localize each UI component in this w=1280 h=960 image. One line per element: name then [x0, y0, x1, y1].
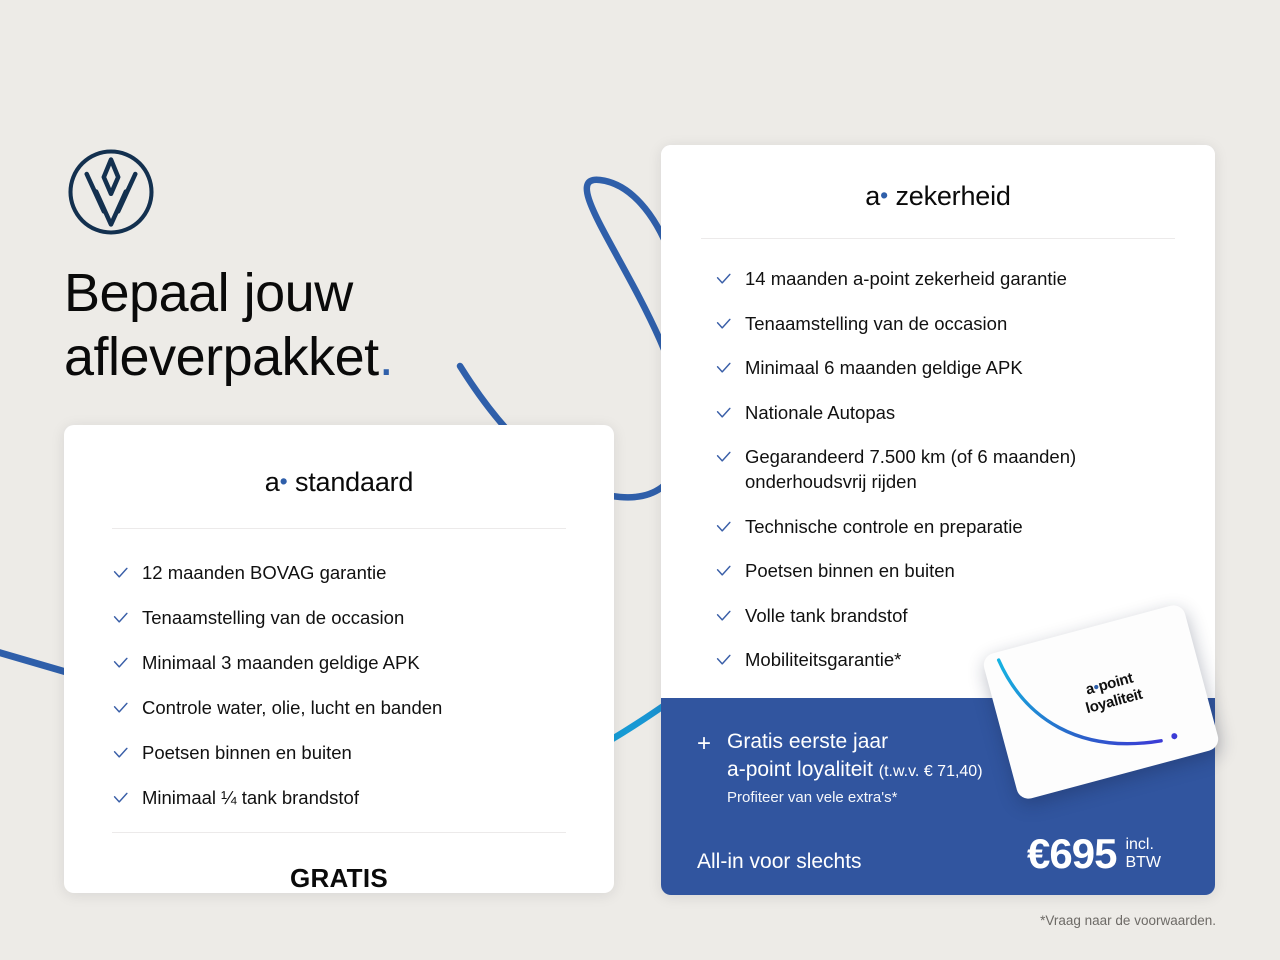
standaard-title-divider [112, 528, 566, 529]
check-icon [112, 655, 129, 672]
price-tax-note: incl. BTW [1125, 836, 1161, 872]
price-amount: €695 [1027, 833, 1116, 875]
bonus-subline: Profiteer van vele extra's* [727, 789, 983, 806]
footnote: *Vraag naar de voorwaarden. [1040, 913, 1216, 928]
page-title-line2: afleverpakket. [64, 326, 393, 390]
zekerheid-title-divider [701, 238, 1175, 239]
list-item: 12 maanden BOVAG garantie [112, 561, 566, 586]
standaard-title-text: standaard [295, 467, 413, 497]
check-icon [715, 652, 732, 669]
list-item: Controle water, olie, lucht en banden [112, 696, 566, 721]
zekerheid-title-prefix: a [865, 181, 880, 211]
list-item: Poetsen binnen en buiten [715, 559, 1175, 584]
price-tax-line2: BTW [1125, 854, 1161, 872]
list-item: Minimaal 6 maanden geldige APK [715, 356, 1175, 381]
zekerheid-card-inner: a• zekerheid 14 maanden a-point zekerhei… [661, 145, 1215, 673]
plus-icon: + [697, 732, 711, 756]
check-icon [112, 790, 129, 807]
bonus-line2-text: a-point loyaliteit [727, 758, 873, 781]
list-item-label: Gegarandeerd 7.500 km (of 6 maanden) ond… [745, 445, 1175, 494]
list-item-label: Mobiliteitsgarantie* [745, 648, 901, 673]
standaard-card-title: a• standaard [112, 467, 566, 498]
list-item-label: Minimaal 6 maanden geldige APK [745, 356, 1023, 381]
brand-dot-icon: • [880, 182, 888, 208]
bonus-text-block: Gratis eerste jaar a-point loyaliteit (t… [727, 728, 983, 806]
list-item: Gegarandeerd 7.500 km (of 6 maanden) ond… [715, 445, 1175, 494]
vw-logo-icon [66, 147, 156, 237]
check-icon [112, 700, 129, 717]
package-card-zekerheid[interactable]: a• zekerheid 14 maanden a-point zekerhei… [661, 145, 1215, 895]
brand-dot-icon: • [280, 468, 288, 494]
zekerheid-price-row: All-in voor slechts €695 incl. BTW [697, 833, 1179, 875]
list-item: 14 maanden a-point zekerheid garantie [715, 267, 1175, 292]
page-title-line1: Bepaal jouw [64, 262, 393, 326]
list-item-label: Minimaal ¼ tank brandstof [142, 786, 359, 811]
bonus-line1: Gratis eerste jaar [727, 728, 983, 756]
list-item-label: Tenaamstelling van de occasion [142, 606, 404, 631]
list-item: Nationale Autopas [715, 401, 1175, 426]
list-item: Minimaal ¼ tank brandstof [112, 786, 566, 811]
page-title: Bepaal jouw afleverpakket. [64, 262, 393, 389]
price-amount-group: €695 incl. BTW [1027, 833, 1161, 875]
list-item-label: Controle water, olie, lucht en banden [142, 696, 442, 721]
standaard-card-inner: a• standaard 12 maanden BOVAG garantieTe… [64, 425, 614, 893]
check-icon [715, 449, 732, 466]
check-icon [715, 271, 732, 288]
zekerheid-feature-list: 14 maanden a-point zekerheid garantieTen… [701, 267, 1175, 673]
list-item-label: Tenaamstelling van de occasion [745, 312, 1007, 337]
list-item-label: 12 maanden BOVAG garantie [142, 561, 386, 586]
check-icon [112, 745, 129, 762]
standaard-price-label: GRATIS [112, 863, 566, 893]
list-item: Poetsen binnen en buiten [112, 741, 566, 766]
check-icon [715, 608, 732, 625]
list-item-label: Technische controle en preparatie [745, 515, 1023, 540]
package-card-standaard[interactable]: a• standaard 12 maanden BOVAG garantieTe… [64, 425, 614, 893]
standaard-title-prefix: a [265, 467, 280, 497]
check-icon [112, 565, 129, 582]
price-tax-line1: incl. [1125, 836, 1161, 854]
list-item: Tenaamstelling van de occasion [112, 606, 566, 631]
list-item-label: Volle tank brandstof [745, 604, 908, 629]
accent-dot: . [379, 327, 394, 387]
list-item-label: 14 maanden a-point zekerheid garantie [745, 267, 1067, 292]
check-icon [715, 405, 732, 422]
check-icon [715, 316, 732, 333]
check-icon [715, 360, 732, 377]
list-item-label: Poetsen binnen en buiten [142, 741, 352, 766]
standaard-feature-list: 12 maanden BOVAG garantieTenaamstelling … [112, 561, 566, 811]
list-item: Minimaal 3 maanden geldige APK [112, 651, 566, 676]
check-icon [112, 610, 129, 627]
price-label: All-in voor slechts [697, 850, 862, 874]
bonus-line2: a-point loyaliteit (t.w.v. € 71,40) [727, 756, 983, 784]
zekerheid-card-title: a• zekerheid [701, 181, 1175, 212]
poster-canvas: Bepaal jouw afleverpakket. a• standaard … [0, 0, 1280, 960]
list-item-label: Nationale Autopas [745, 401, 895, 426]
list-item-label: Minimaal 3 maanden geldige APK [142, 651, 420, 676]
zekerheid-title-text: zekerheid [895, 181, 1010, 211]
list-item: Tenaamstelling van de occasion [715, 312, 1175, 337]
bonus-value: (t.w.v. € 71,40) [879, 763, 983, 780]
check-icon [715, 519, 732, 536]
list-item-label: Poetsen binnen en buiten [745, 559, 955, 584]
standaard-price-divider [112, 832, 566, 833]
check-icon [715, 563, 732, 580]
list-item: Technische controle en preparatie [715, 515, 1175, 540]
